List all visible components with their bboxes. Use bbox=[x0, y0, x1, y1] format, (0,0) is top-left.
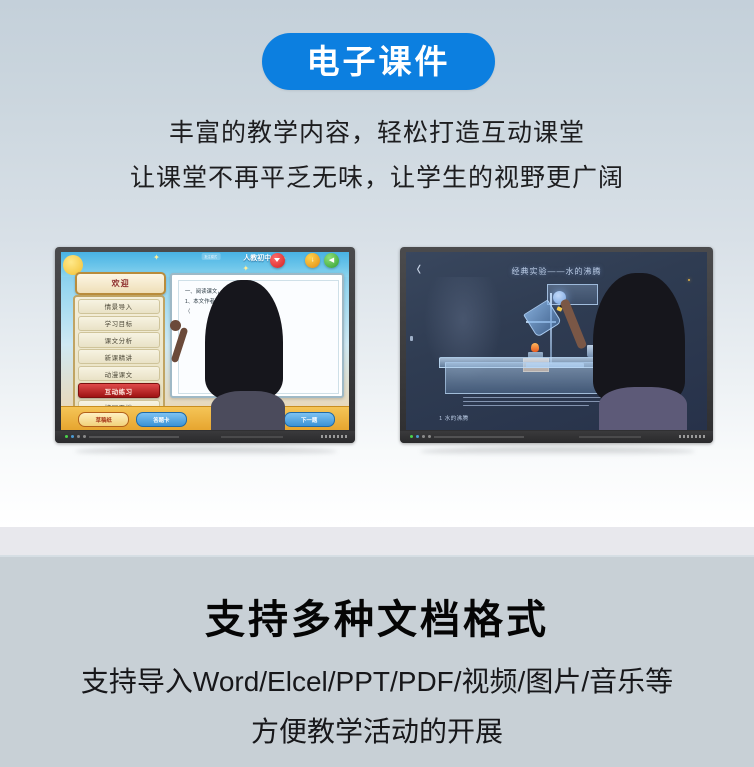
sensor-led-icon bbox=[422, 435, 425, 438]
signal-led-icon bbox=[71, 435, 74, 438]
device-reflection-left bbox=[75, 447, 337, 456]
section-badge-label: 电子课件 bbox=[307, 45, 451, 78]
document-format-line-2: 方便教学活动的开展 bbox=[0, 710, 754, 750]
next-question-button[interactable]: 下一题 bbox=[284, 412, 335, 427]
menu-item-label: 情景导入 bbox=[105, 301, 133, 311]
menu-item-kewenfenxi[interactable]: 课文分析 bbox=[78, 332, 160, 347]
grade-selector-label[interactable]: 人教初中 bbox=[243, 253, 271, 263]
star-icon: ✦ bbox=[153, 253, 160, 262]
teacher-silhouette-body bbox=[599, 387, 687, 430]
document-format-section: 支持多种文档格式 支持导入Word/Elcel/PPT/PDF/视频/图片/音乐… bbox=[0, 555, 754, 767]
menu-item-label: 新课精讲 bbox=[105, 352, 133, 362]
volume-icon[interactable]: ◀ bbox=[324, 253, 339, 268]
flame-icon bbox=[531, 343, 539, 352]
device-bottom-bezel-left bbox=[55, 431, 355, 443]
power-led-icon bbox=[65, 435, 68, 438]
sensor-led-icon bbox=[77, 435, 80, 438]
amber-dot-icon bbox=[688, 279, 691, 282]
brand-strip bbox=[434, 436, 524, 438]
right-screen-display: ‹ 经典实验——水的沸腾 bbox=[406, 252, 707, 430]
experiment-app: ‹ 经典实验——水的沸腾 bbox=[406, 252, 707, 430]
signal-led-icon bbox=[416, 435, 419, 438]
experiment-caption: 1 水的沸腾 bbox=[439, 414, 468, 422]
annotation-mode-label[interactable]: 批注模式 bbox=[201, 253, 220, 260]
status-leds bbox=[65, 435, 86, 438]
courseware-title-plaque: 欢迎 bbox=[75, 272, 165, 296]
teacher-silhouette-head bbox=[593, 273, 685, 405]
document-format-line-1: 支持导入Word/Elcel/PPT/PDF/视频/图片/音乐等 bbox=[0, 660, 754, 700]
document-format-heading: 支持多种文档格式 bbox=[0, 587, 754, 645]
menu-item-dongmankewen[interactable]: 动漫课文 bbox=[78, 366, 160, 381]
hero-tagline-1: 丰富的教学内容，轻松打造互动课堂 bbox=[0, 113, 754, 149]
left-interactive-panel-device: ✦ ✦ ✦ 批注模式 人教初中 ↓ ◀ 欢迎 情景导入 bbox=[55, 247, 355, 443]
power-led-icon bbox=[410, 435, 413, 438]
ir-led-icon bbox=[428, 435, 431, 438]
speaker-grille-icon bbox=[321, 435, 347, 438]
courseware-action-bar: 草稿纸 答题卡 下一题 bbox=[61, 406, 349, 430]
menu-item-label: 动漫课文 bbox=[105, 369, 133, 379]
side-indicator-icon bbox=[410, 336, 413, 341]
download-icon[interactable]: ↓ bbox=[305, 253, 320, 268]
glass-cover-diagram bbox=[547, 284, 597, 306]
menu-item-xueximubiao[interactable]: 学习目标 bbox=[78, 316, 160, 331]
student-silhouette-body bbox=[211, 391, 285, 430]
menu-item-qingjingdaoru[interactable]: 情景导入 bbox=[78, 299, 160, 314]
teacher-arm bbox=[559, 298, 587, 350]
answer-card-button[interactable]: 答题卡 bbox=[136, 412, 187, 427]
courseware-title-label: 欢迎 bbox=[112, 278, 130, 289]
model-strip bbox=[579, 436, 641, 438]
right-interactive-panel-device: ‹ 经典实验——水的沸腾 bbox=[400, 247, 713, 443]
status-leds bbox=[410, 435, 431, 438]
menu-item-label: 课文分析 bbox=[105, 335, 133, 345]
speaker-grille-icon bbox=[679, 435, 705, 438]
student-silhouette-head bbox=[205, 280, 283, 400]
ir-led-icon bbox=[83, 435, 86, 438]
draft-paper-button[interactable]: 草稿纸 bbox=[78, 412, 129, 427]
section-badge: 电子课件 bbox=[262, 33, 495, 90]
chevron-left-icon[interactable]: ‹ bbox=[417, 254, 422, 280]
experiment-title: 经典实验——水的沸腾 bbox=[512, 266, 602, 277]
left-screen-display: ✦ ✦ ✦ 批注模式 人教初中 ↓ ◀ 欢迎 情景导入 bbox=[61, 252, 349, 430]
device-bottom-bezel-right bbox=[400, 431, 713, 443]
menu-item-label: 学习目标 bbox=[105, 318, 133, 328]
section-divider-band bbox=[0, 527, 754, 555]
menu-item-hudonglianxi[interactable]: 互动练习 bbox=[78, 383, 160, 398]
hero-tagline-2: 让课堂不再平乏无味，让学生的视野更广阔 bbox=[0, 158, 754, 194]
courseware-menu: 情景导入 学习目标 课文分析 新课精讲 动漫课文 互动练习 扩展天地 bbox=[73, 295, 165, 412]
menu-item-label: 互动练习 bbox=[105, 386, 133, 396]
device-reflection-right bbox=[420, 447, 695, 456]
chevron-down-icon[interactable] bbox=[270, 253, 285, 268]
menu-item-xinkejingjiang[interactable]: 新课精讲 bbox=[78, 349, 160, 364]
brand-strip bbox=[89, 436, 179, 438]
courseware-app: ✦ ✦ ✦ 批注模式 人教初中 ↓ ◀ 欢迎 情景导入 bbox=[61, 252, 349, 430]
star-icon: ✦ bbox=[242, 264, 249, 273]
section-top-edge bbox=[0, 555, 754, 557]
hero-section: 电子课件 丰富的教学内容，轻松打造互动课堂 让课堂不再平乏无味，让学生的视野更广… bbox=[0, 0, 754, 527]
model-strip bbox=[221, 436, 283, 438]
product-detail-page: 电子课件 丰富的教学内容，轻松打造互动课堂 让课堂不再平乏无味，让学生的视野更广… bbox=[0, 0, 754, 767]
